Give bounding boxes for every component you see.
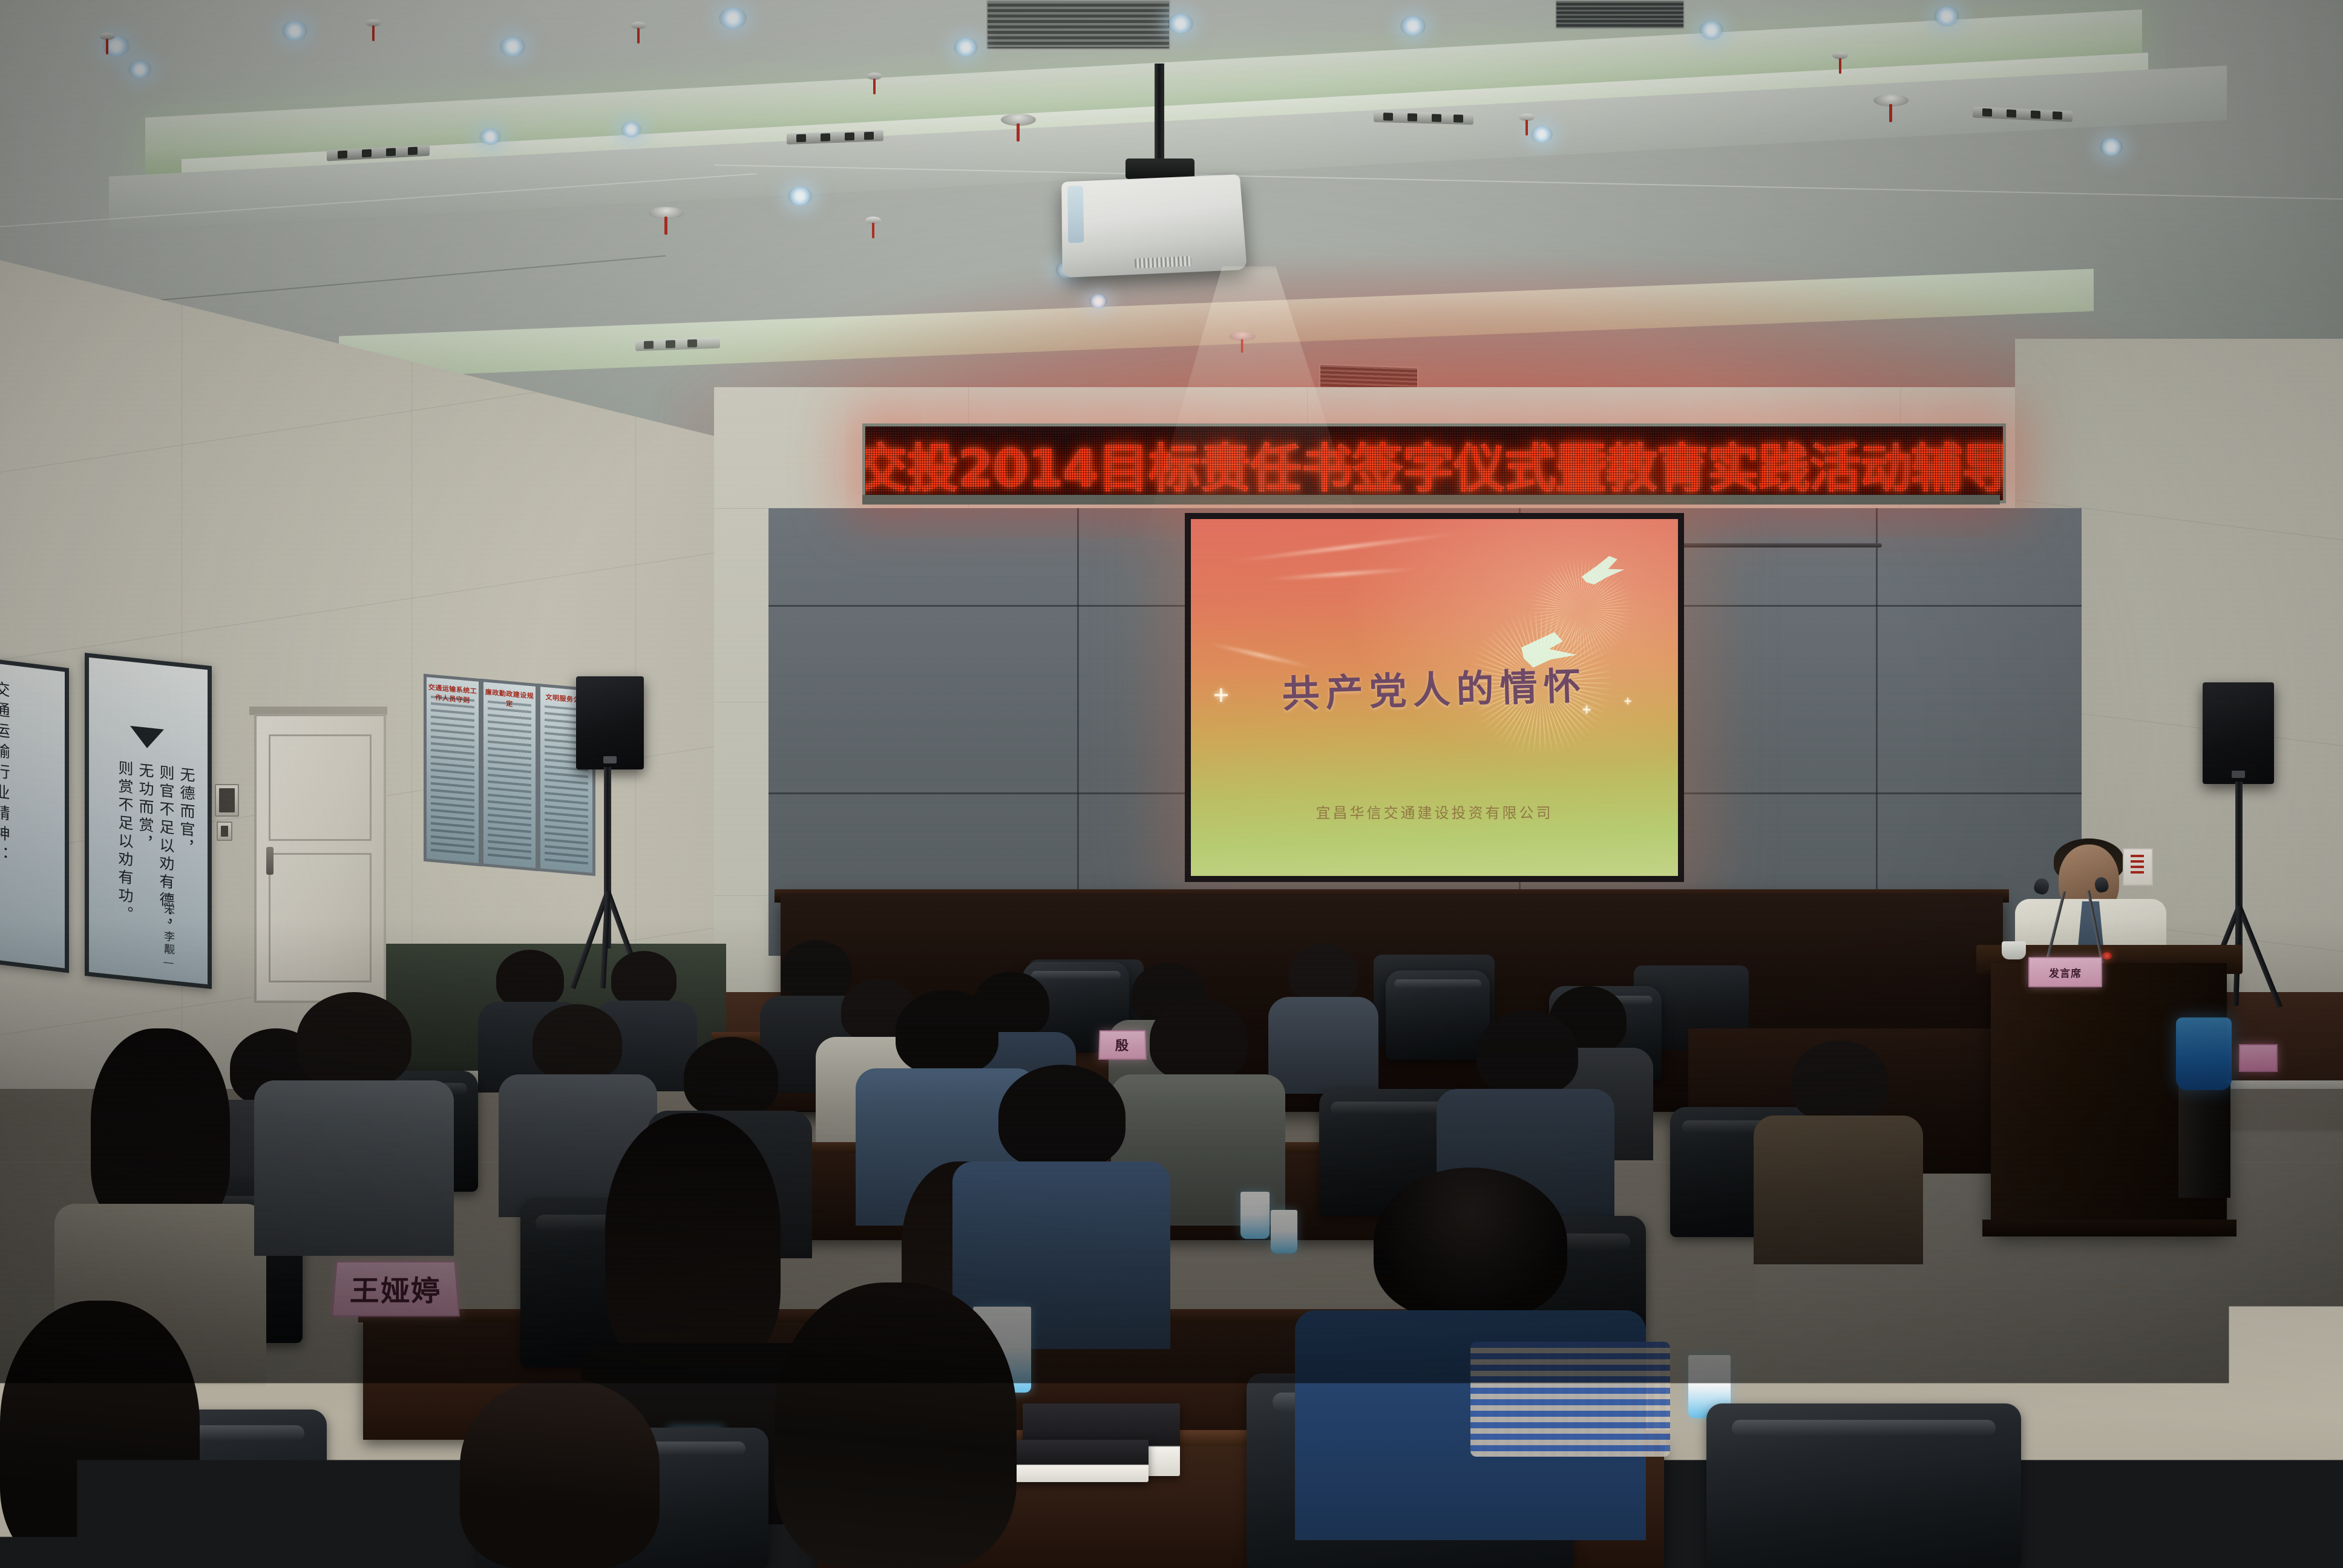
ceiling-downlight	[1934, 6, 1959, 27]
light-switch[interactable]	[215, 784, 239, 817]
ceiling-downlight	[719, 7, 747, 29]
desk-nameplate-text: 殷	[1115, 1036, 1130, 1054]
podium-base	[1982, 1220, 2236, 1236]
smoke-detector	[1001, 114, 1036, 126]
ceiling-projector	[1061, 174, 1247, 278]
fire-sprinkler	[1519, 114, 1535, 121]
conference-hall-photo: 交通运输行业精神： 无德而官， 则官不足以劝有德； 无功而赏， 则赏不足以劝有功…	[0, 0, 2343, 1568]
projection-screen: 共产党人的情怀 宜昌华信交通建设投资有限公司	[1191, 519, 1678, 876]
ceiling-downlight	[128, 60, 151, 79]
air-vent	[986, 0, 1170, 50]
notice-board-2: 廉政勤政建设规定	[480, 679, 539, 871]
quote-attribution: —宋·李觏—	[160, 888, 176, 972]
side-table-nameplate	[2239, 1044, 2278, 1072]
ceiling-downlight	[788, 186, 812, 206]
ceiling-downlight	[1168, 13, 1193, 34]
ceiling-downlight	[1531, 126, 1553, 143]
paper-cup	[1271, 1210, 1297, 1253]
checkered-shirt	[1470, 1342, 1670, 1457]
ceiling-downlight	[621, 121, 641, 138]
ceiling-downlight	[282, 21, 307, 41]
projector-mount-bracket	[1126, 158, 1194, 179]
smoke-detector	[649, 207, 684, 219]
door-handle[interactable]	[266, 847, 274, 875]
led-banner: 华信交投2014目标责任书签字仪式暨教育实践活动辅导党课	[862, 423, 2006, 503]
pa-speaker-right	[2203, 682, 2274, 784]
wall-poster-quote: 无德而官， 则官不足以劝有德； 无功而赏， 则赏不足以劝有功。 —宋·李觏—	[85, 653, 212, 989]
slide-subtitle: 宜昌华信交通建设投资有限公司	[1191, 801, 1678, 822]
wall-sign	[2123, 848, 2153, 886]
wall-poster-edge-text: 交通运输行业精神：	[0, 679, 11, 867]
podium-nameplate-text: 发言席	[2049, 965, 2082, 980]
notice-board-1: 交通运输系统工作人员守则	[424, 674, 482, 866]
light-switch-small[interactable]	[217, 822, 232, 841]
podium-indicator-light	[2102, 952, 2112, 959]
air-vent	[1555, 0, 1685, 29]
fire-sprinkler	[865, 217, 881, 224]
podium-teacup	[2002, 941, 2026, 959]
audience-chair[interactable]	[1706, 1403, 2021, 1568]
water-cooler-bottle	[2176, 1018, 2232, 1090]
watermark: 华信交投 www.ychxjt.cn	[2149, 1507, 2322, 1551]
audience-chair[interactable]	[1386, 970, 1490, 1060]
podium-nameplate: 发言席	[2028, 957, 2102, 987]
fire-sprinkler	[1832, 52, 1848, 59]
led-banner-frame-bottom	[862, 495, 2000, 505]
water-cooler-body	[2178, 1083, 2230, 1198]
ceiling-downlight	[954, 38, 978, 57]
fire-sprinkler	[99, 33, 115, 40]
ceiling-downlight	[500, 36, 525, 57]
fire-sprinkler	[365, 19, 381, 27]
pa-speaker-left	[576, 676, 644, 769]
projection-screen-frame: 共产党人的情怀 宜昌华信交通建设投资有限公司	[1185, 513, 1684, 882]
quote-line-3: 无功而赏，	[135, 762, 156, 855]
desk-nameplate-text: 王娅婷	[349, 1268, 442, 1309]
wall-poster-edge: 交通运输行业精神：	[0, 657, 69, 973]
projector-mount-pole	[1155, 64, 1164, 166]
company-logo-icon	[2149, 1510, 2188, 1549]
fire-sprinkler	[867, 73, 882, 80]
side-door[interactable]	[254, 714, 386, 1003]
led-banner-text: 华信交投2014目标责任书签字仪式暨教育实践活动辅导党课	[862, 426, 2006, 501]
desk-nameplate: 王娅婷	[332, 1261, 460, 1316]
notebook	[997, 1440, 1149, 1482]
quote-line-1: 无德而官，	[176, 766, 197, 859]
paper-cup	[1240, 1192, 1270, 1239]
ceiling-downlight	[1699, 21, 1723, 40]
smoke-detector	[1873, 94, 1909, 106]
watermark-brand: 华信交投	[2197, 1507, 2322, 1535]
ceiling-downlight	[2100, 138, 2123, 156]
ceiling-downlight	[479, 128, 501, 145]
ceiling-downlight	[1400, 16, 1426, 36]
desk-nameplate: 殷	[1098, 1030, 1147, 1060]
watermark-url: www.ychxjt.cn	[2197, 1539, 2322, 1551]
quote-line-4: 则赏不足以劝有功。	[114, 759, 135, 925]
fire-sprinkler	[631, 22, 646, 29]
